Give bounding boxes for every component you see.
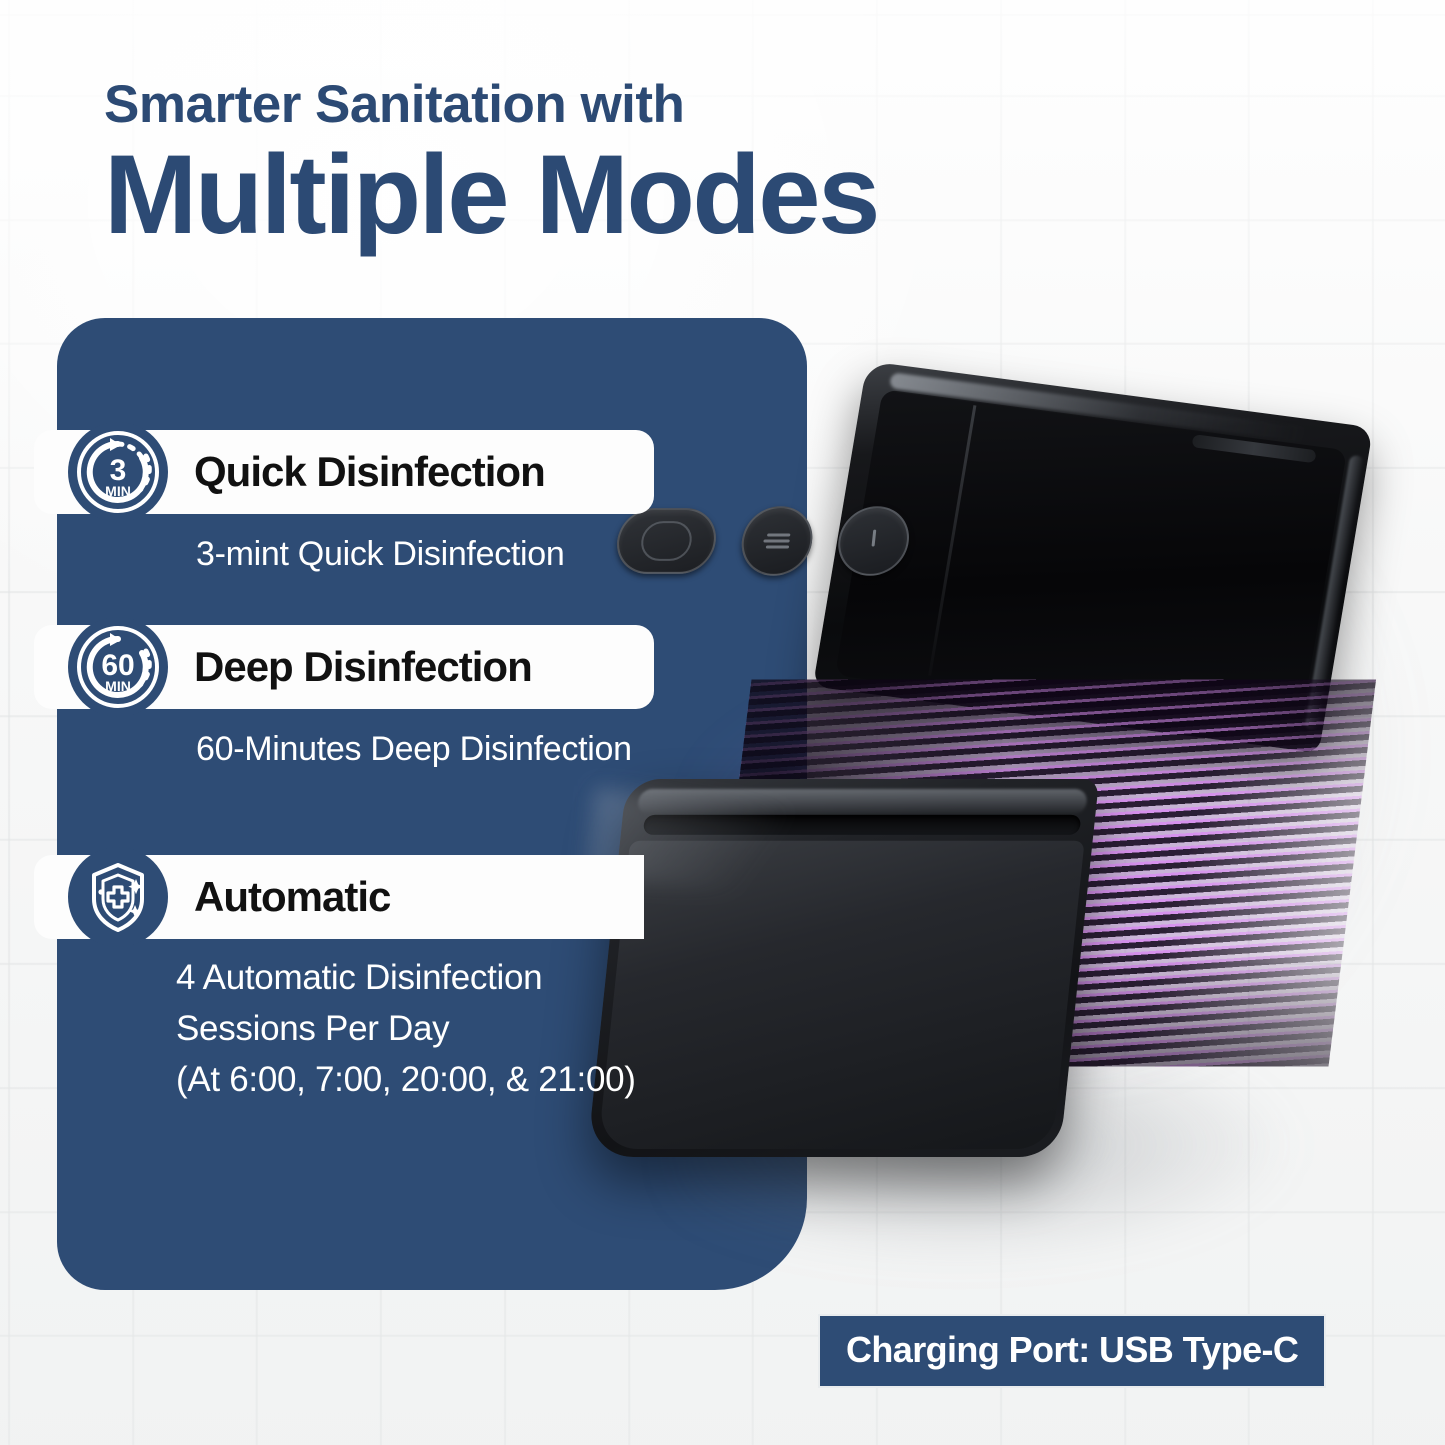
- page-title: Smarter Sanitation with Multiple Modes: [104, 78, 878, 253]
- shield-medical-cross-icon: [68, 847, 168, 947]
- feature-description-line-1: 60-Minutes Deep Disinfection: [196, 730, 632, 768]
- power-icon: [857, 525, 891, 557]
- feature-description: 3-mint Quick Disinfection: [196, 530, 565, 578]
- feature-title: Automatic: [194, 873, 390, 921]
- feature-title: Quick Disinfection: [194, 448, 545, 496]
- headline-line-1: Smarter Sanitation with: [104, 78, 878, 131]
- feature-description: 4 Automatic Disinfection Sessions Per Da…: [176, 953, 636, 1105]
- headline-line-2: Multiple Modes: [104, 137, 878, 253]
- power-button[interactable]: [835, 506, 913, 576]
- feature-description-line-1: 4 Automatic Disinfection: [176, 953, 636, 1004]
- feature-description: 60-Minutes Deep Disinfection: [196, 725, 632, 773]
- charging-port-badge: Charging Port: USB Type-C: [818, 1314, 1326, 1388]
- timer-unit: MIN: [105, 483, 131, 499]
- feature-description-line-3: (At 6:00, 7:00, 20:00, & 21:00): [176, 1055, 636, 1106]
- feature-description-line-2: Sessions Per Day: [176, 1004, 636, 1055]
- features-list: Quick Disinfection 3 MIN 3-mint Quick Di…: [0, 318, 820, 1290]
- feature-title: Deep Disinfection: [194, 643, 532, 691]
- timer-3-min-icon: 3 MIN: [68, 422, 168, 522]
- timer-60-min-icon: 60 MIN: [68, 617, 168, 717]
- timer-unit: MIN: [105, 678, 131, 694]
